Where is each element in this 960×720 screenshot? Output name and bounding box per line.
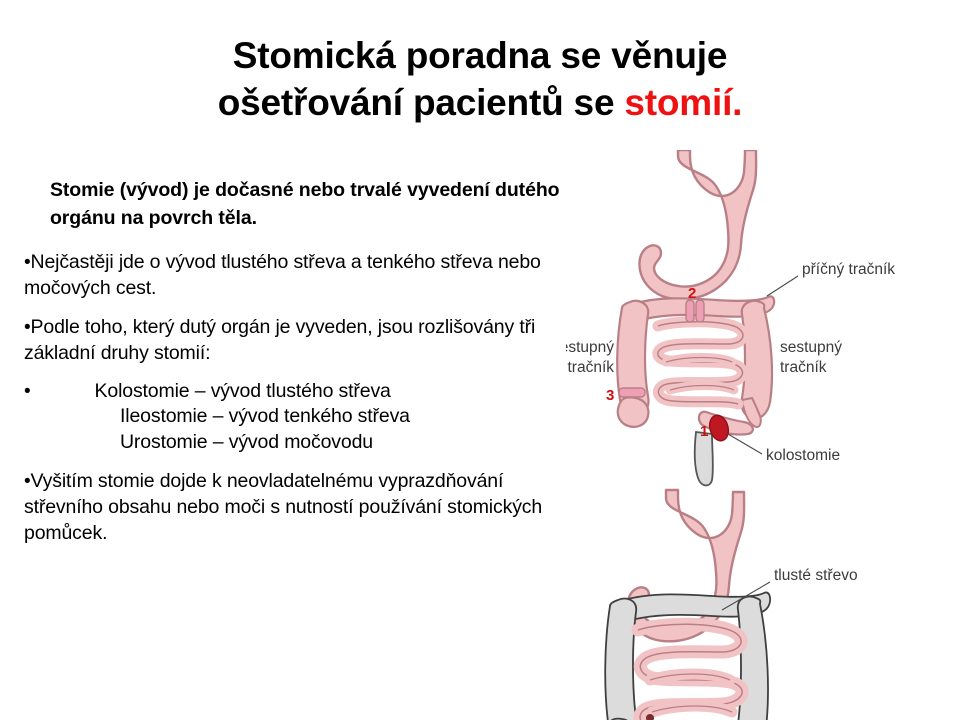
small-intestine-coils-upper: [658, 322, 743, 404]
label-colostomy: kolostomie: [766, 447, 840, 464]
label-transverse-colon: příčný tračník: [802, 261, 895, 278]
marker-label-3: 3: [606, 387, 614, 404]
stoma-types-list-item: •Kolostomie – vývod tlustého střeva Ileo…: [24, 379, 576, 455]
label-ascending-colon-line-1: vzestupný: [566, 339, 614, 356]
page-title: Stomická poradna se věnuje ošetřování pa…: [60, 32, 900, 127]
list-item: •Podle toho, který dutý orgán je vyveden…: [24, 314, 576, 366]
lower-diagram-ileostomy: tlusté střevo tenké střevo ileostomie: [584, 490, 858, 720]
lead-line-1: Stomie (vývod) je dočasné nebo trvalé: [50, 179, 402, 201]
stoma-type-urostomy: Urostomie – vývod močovodu: [24, 430, 576, 455]
stoma-type-colostomy: Kolostomie – vývod tlustého střeva: [31, 380, 391, 402]
list-item-text: Podle toho, který dutý orgán je vyveden,…: [24, 316, 535, 364]
label-descending-colon-line-1: sestupný: [780, 339, 842, 356]
list-item-text: Nejčastěji jde o vývod tlustého střeva a…: [24, 251, 541, 299]
marker-label-1: 1: [700, 423, 708, 440]
list-item-text: Vyšitím stomie dojde k neovladatelnému v…: [24, 470, 542, 544]
title-accent-word: stomií.: [624, 82, 742, 123]
bullet-marker: •: [24, 381, 31, 402]
marker-3-segment: [619, 388, 645, 397]
label-large-intestine: tlusté střevo: [774, 567, 858, 584]
list-item: •Nejčastěji jde o vývod tlustého střeva …: [24, 249, 576, 301]
stoma-type-row-1: •Kolostomie – vývod tlustého střeva: [24, 379, 576, 404]
title-line-1: Stomická poradna se věnuje: [60, 32, 900, 79]
title-line-2-prefix: ošetřování pacientů se: [218, 82, 625, 123]
lead-paragraph: Stomie (vývod) je dočasné nebo trvalé vy…: [50, 176, 576, 233]
title-line-2: ošetřování pacientů se stomií.: [60, 79, 900, 126]
stoma-type-ileostomy: Ileostomie – vývod tenkého střeva: [24, 404, 576, 429]
upper-diagram-colostomy: 2 3 1 příčný tračník vzestupný tračník s…: [566, 150, 895, 485]
list-item: •Vyšitím stomie dojde k neovladatelnému …: [24, 468, 576, 546]
marker-label-2: 2: [688, 285, 696, 302]
anatomy-svg: 2 3 1 příčný tračník vzestupný tračník s…: [566, 150, 960, 720]
label-descending-colon-line-2: tračník: [780, 359, 827, 376]
anatomy-illustration: 2 3 1 příčný tračník vzestupný tračník s…: [566, 150, 960, 720]
large-intestine-ascending: [605, 599, 636, 720]
content-text-column: Stomie (vývod) je dočasné nebo trvalé vy…: [24, 176, 576, 546]
leader-transverse: [767, 276, 798, 296]
stomach-shape: [639, 150, 756, 299]
caecum: [618, 397, 649, 426]
rectum-stub: [695, 432, 713, 485]
label-ascending-colon-line-2: tračník: [567, 359, 614, 376]
bullet-list: •Nejčastěji jde o vývod tlustého střeva …: [24, 249, 576, 547]
leader-colostomy: [728, 434, 762, 454]
